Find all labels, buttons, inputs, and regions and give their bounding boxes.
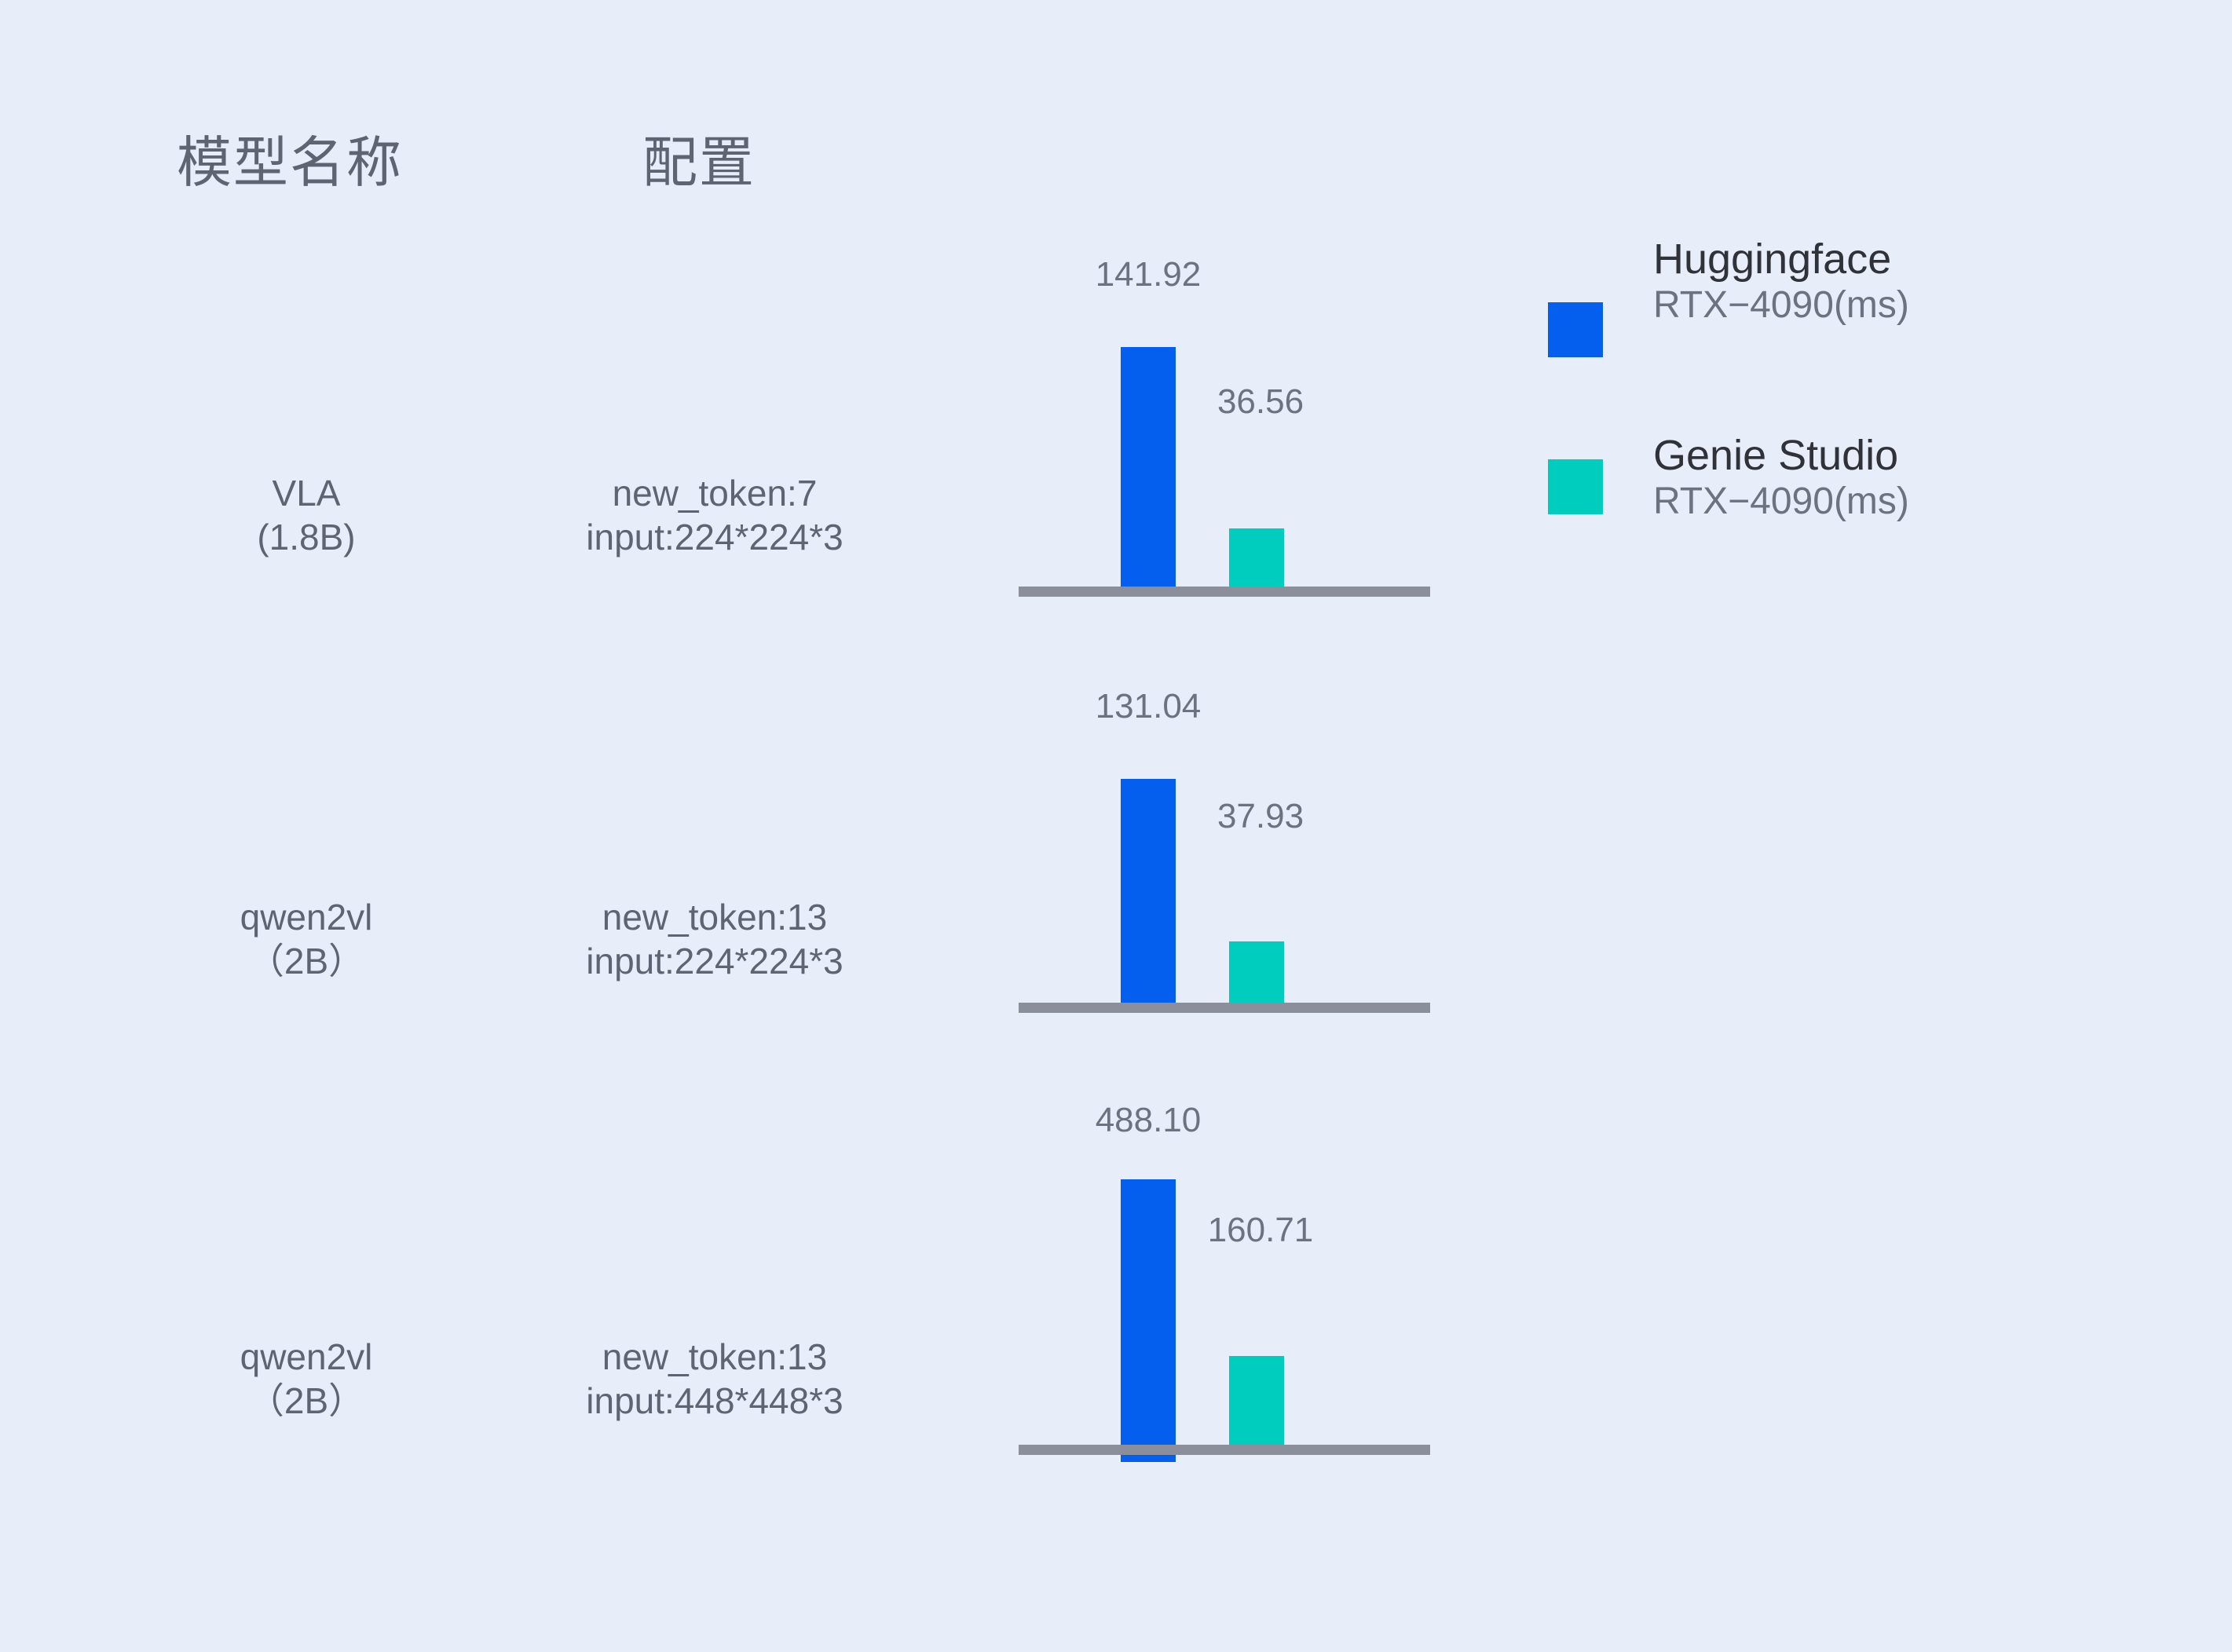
- bar-value-label-genie-studio: 37.93: [1158, 799, 1363, 834]
- row-config: new_token:13input:224*224*3: [487, 895, 942, 983]
- model-name-line-1: VLA: [141, 471, 471, 515]
- chart-canvas: 模型名称 配置 VLA(1.8B)new_token:7input:224*22…: [0, 0, 2232, 1652]
- legend-series-sublabel: RTX−4090(ms): [1653, 283, 2093, 328]
- row-model-name: qwen2vl（2B）: [141, 895, 471, 983]
- legend-series-name: Genie Studio: [1653, 432, 2093, 479]
- row-model-name: qwen2vl（2B）: [141, 1335, 471, 1423]
- config-line-2: input:448*448*3: [487, 1379, 942, 1423]
- config-line-2: input:224*224*3: [487, 939, 942, 983]
- legend-series-sublabel: RTX−4090(ms): [1653, 479, 2093, 524]
- model-name-line-2: (1.8B): [141, 515, 471, 559]
- legend-text-block: HuggingfaceRTX−4090(ms): [1653, 236, 2093, 328]
- bar-value-label-huggingface: 488.10: [1046, 1103, 1250, 1138]
- row-baseline-axis: [1019, 1003, 1430, 1013]
- row-model-name: VLA(1.8B): [141, 471, 471, 559]
- model-name-line-1: qwen2vl: [141, 895, 471, 939]
- row-baseline-axis: [1019, 1445, 1430, 1455]
- legend-series-name: Huggingface: [1653, 236, 2093, 283]
- bar-huggingface[interactable]: [1121, 1179, 1176, 1462]
- legend-swatch-genie-studio: [1548, 459, 1603, 514]
- bar-huggingface[interactable]: [1121, 347, 1176, 597]
- config-line-2: input:224*224*3: [487, 515, 942, 559]
- bar-value-label-genie-studio: 160.71: [1158, 1213, 1363, 1248]
- legend-swatch-huggingface: [1548, 302, 1603, 357]
- bar-genie-studio[interactable]: [1229, 1356, 1284, 1455]
- row-config: new_token:7input:224*224*3: [487, 471, 942, 559]
- column-header-model-name: 模型名称: [177, 135, 403, 190]
- bar-value-label-huggingface: 141.92: [1046, 258, 1250, 292]
- column-header-config: 配置: [642, 135, 756, 190]
- config-line-1: new_token:13: [487, 1335, 942, 1379]
- bar-value-label-genie-studio: 36.56: [1158, 385, 1363, 419]
- bar-value-label-huggingface: 131.04: [1046, 689, 1250, 724]
- row-baseline-axis: [1019, 587, 1430, 597]
- model-name-line-2: （2B）: [141, 939, 471, 983]
- model-name-line-1: qwen2vl: [141, 1335, 471, 1379]
- bar-huggingface[interactable]: [1121, 779, 1176, 1013]
- model-name-line-2: （2B）: [141, 1379, 471, 1423]
- config-line-1: new_token:13: [487, 895, 942, 939]
- legend-text-block: Genie StudioRTX−4090(ms): [1653, 432, 2093, 524]
- row-config: new_token:13input:448*448*3: [487, 1335, 942, 1423]
- config-line-1: new_token:7: [487, 471, 942, 515]
